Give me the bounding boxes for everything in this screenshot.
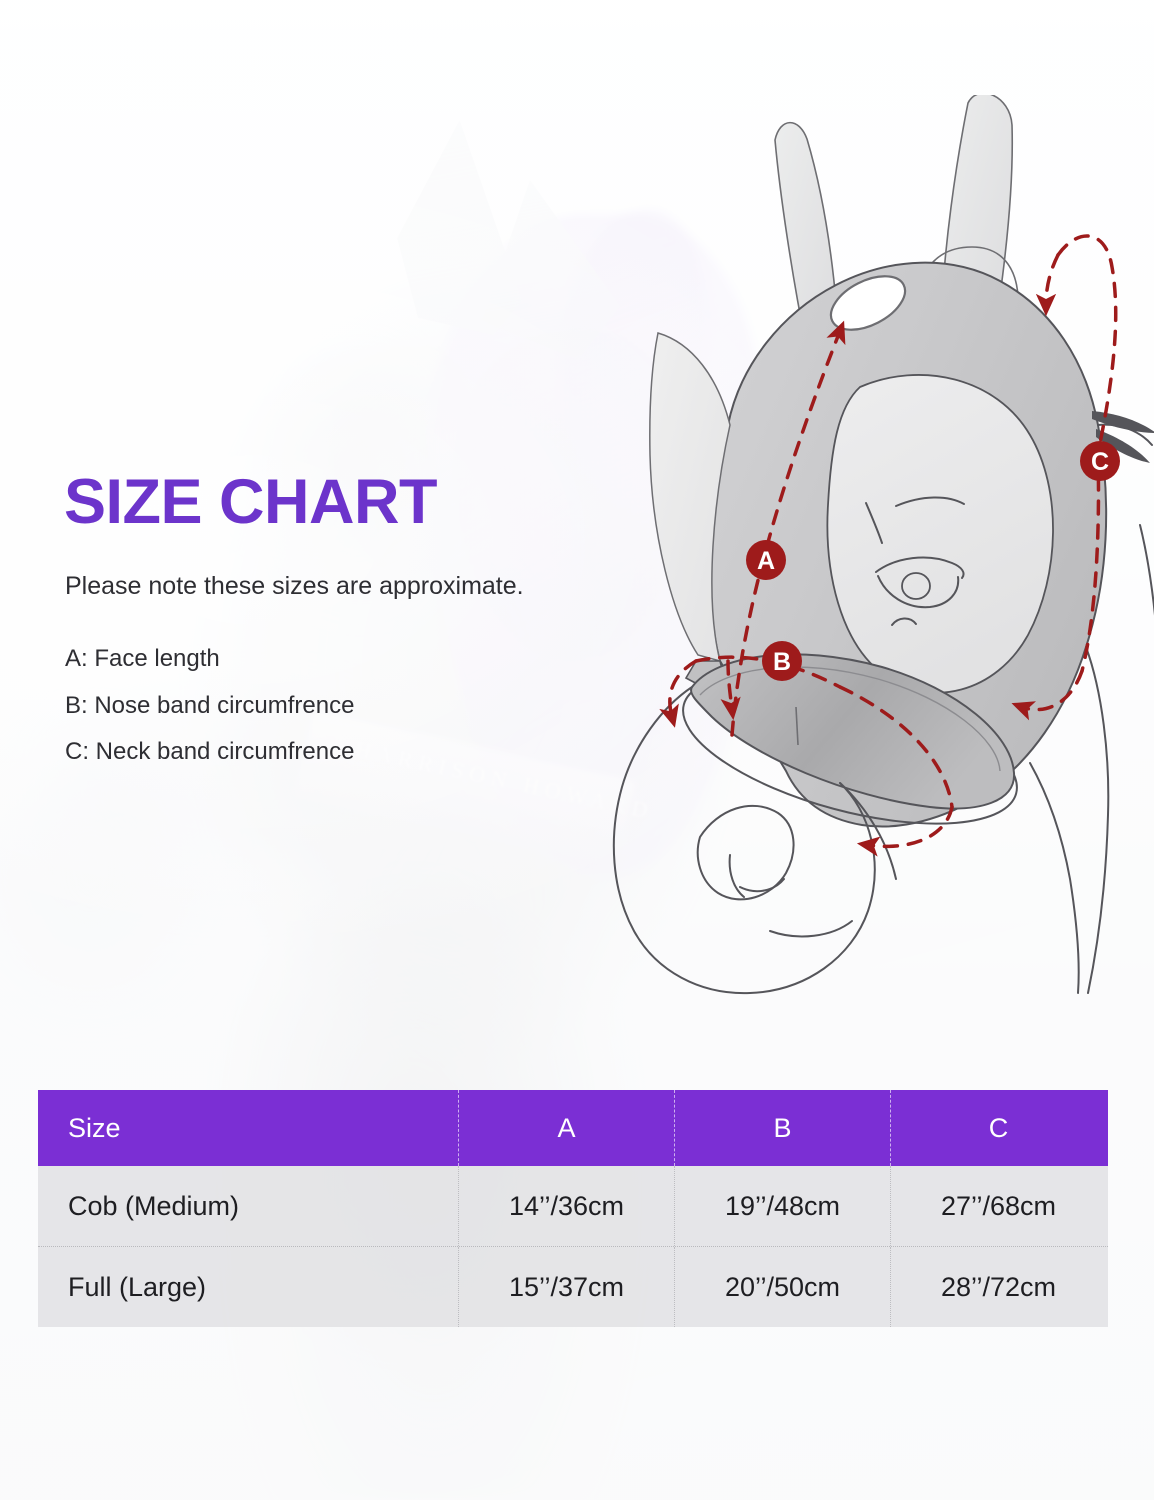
- table-row: Cob (Medium) 14’’/36cm 19’’/48cm 27’’/68…: [38, 1166, 1108, 1246]
- size-table: Size A B C Cob (Medium) 14’’/36cm 19’’/4…: [38, 1090, 1108, 1327]
- row-full-c: 28’’/72cm: [941, 1272, 1056, 1303]
- measure-marker-c: C: [1080, 441, 1120, 481]
- page-title: SIZE CHART: [64, 471, 437, 534]
- measure-marker-b-label: B: [773, 648, 791, 676]
- legend-item-b: B: Nose band circumfrence: [65, 692, 354, 720]
- row-cob-c: 27’’/68cm: [941, 1191, 1056, 1222]
- fly-mask-illustration: A B C: [600, 95, 1154, 995]
- measure-marker-a-label: A: [757, 547, 775, 575]
- size-chart-page: HARRISON HOWARD: [0, 0, 1154, 1500]
- legend-item-c: C: Neck band circumfrence: [65, 738, 354, 766]
- row-cob-size: Cob (Medium): [68, 1191, 239, 1222]
- row-cob-a: 14’’/36cm: [509, 1191, 624, 1222]
- mask-eye-dome: [827, 375, 1053, 693]
- table-row: Full (Large) 15’’/37cm 20’’/50cm 28’’/72…: [38, 1246, 1108, 1327]
- row-full-a: 15’’/37cm: [509, 1272, 624, 1303]
- table-header-size: Size: [38, 1113, 458, 1144]
- table-header-row: Size A B C: [38, 1090, 1108, 1166]
- measure-marker-c-label: C: [1091, 448, 1109, 476]
- legend-item-a: A: Face length: [65, 645, 354, 673]
- table-header-c: C: [890, 1090, 1106, 1166]
- measurement-legend: A: Face length B: Nose band circumfrence…: [65, 645, 354, 785]
- row-full-size: Full (Large): [68, 1272, 206, 1303]
- row-cob-b: 19’’/48cm: [725, 1191, 840, 1222]
- measure-marker-a: A: [746, 540, 786, 580]
- table-header-a: A: [458, 1090, 674, 1166]
- measure-marker-b: B: [762, 641, 802, 681]
- page-subtitle: Please note these sizes are approximate.: [65, 572, 524, 601]
- table-header-b: B: [674, 1090, 890, 1166]
- row-full-b: 20’’/50cm: [725, 1272, 840, 1303]
